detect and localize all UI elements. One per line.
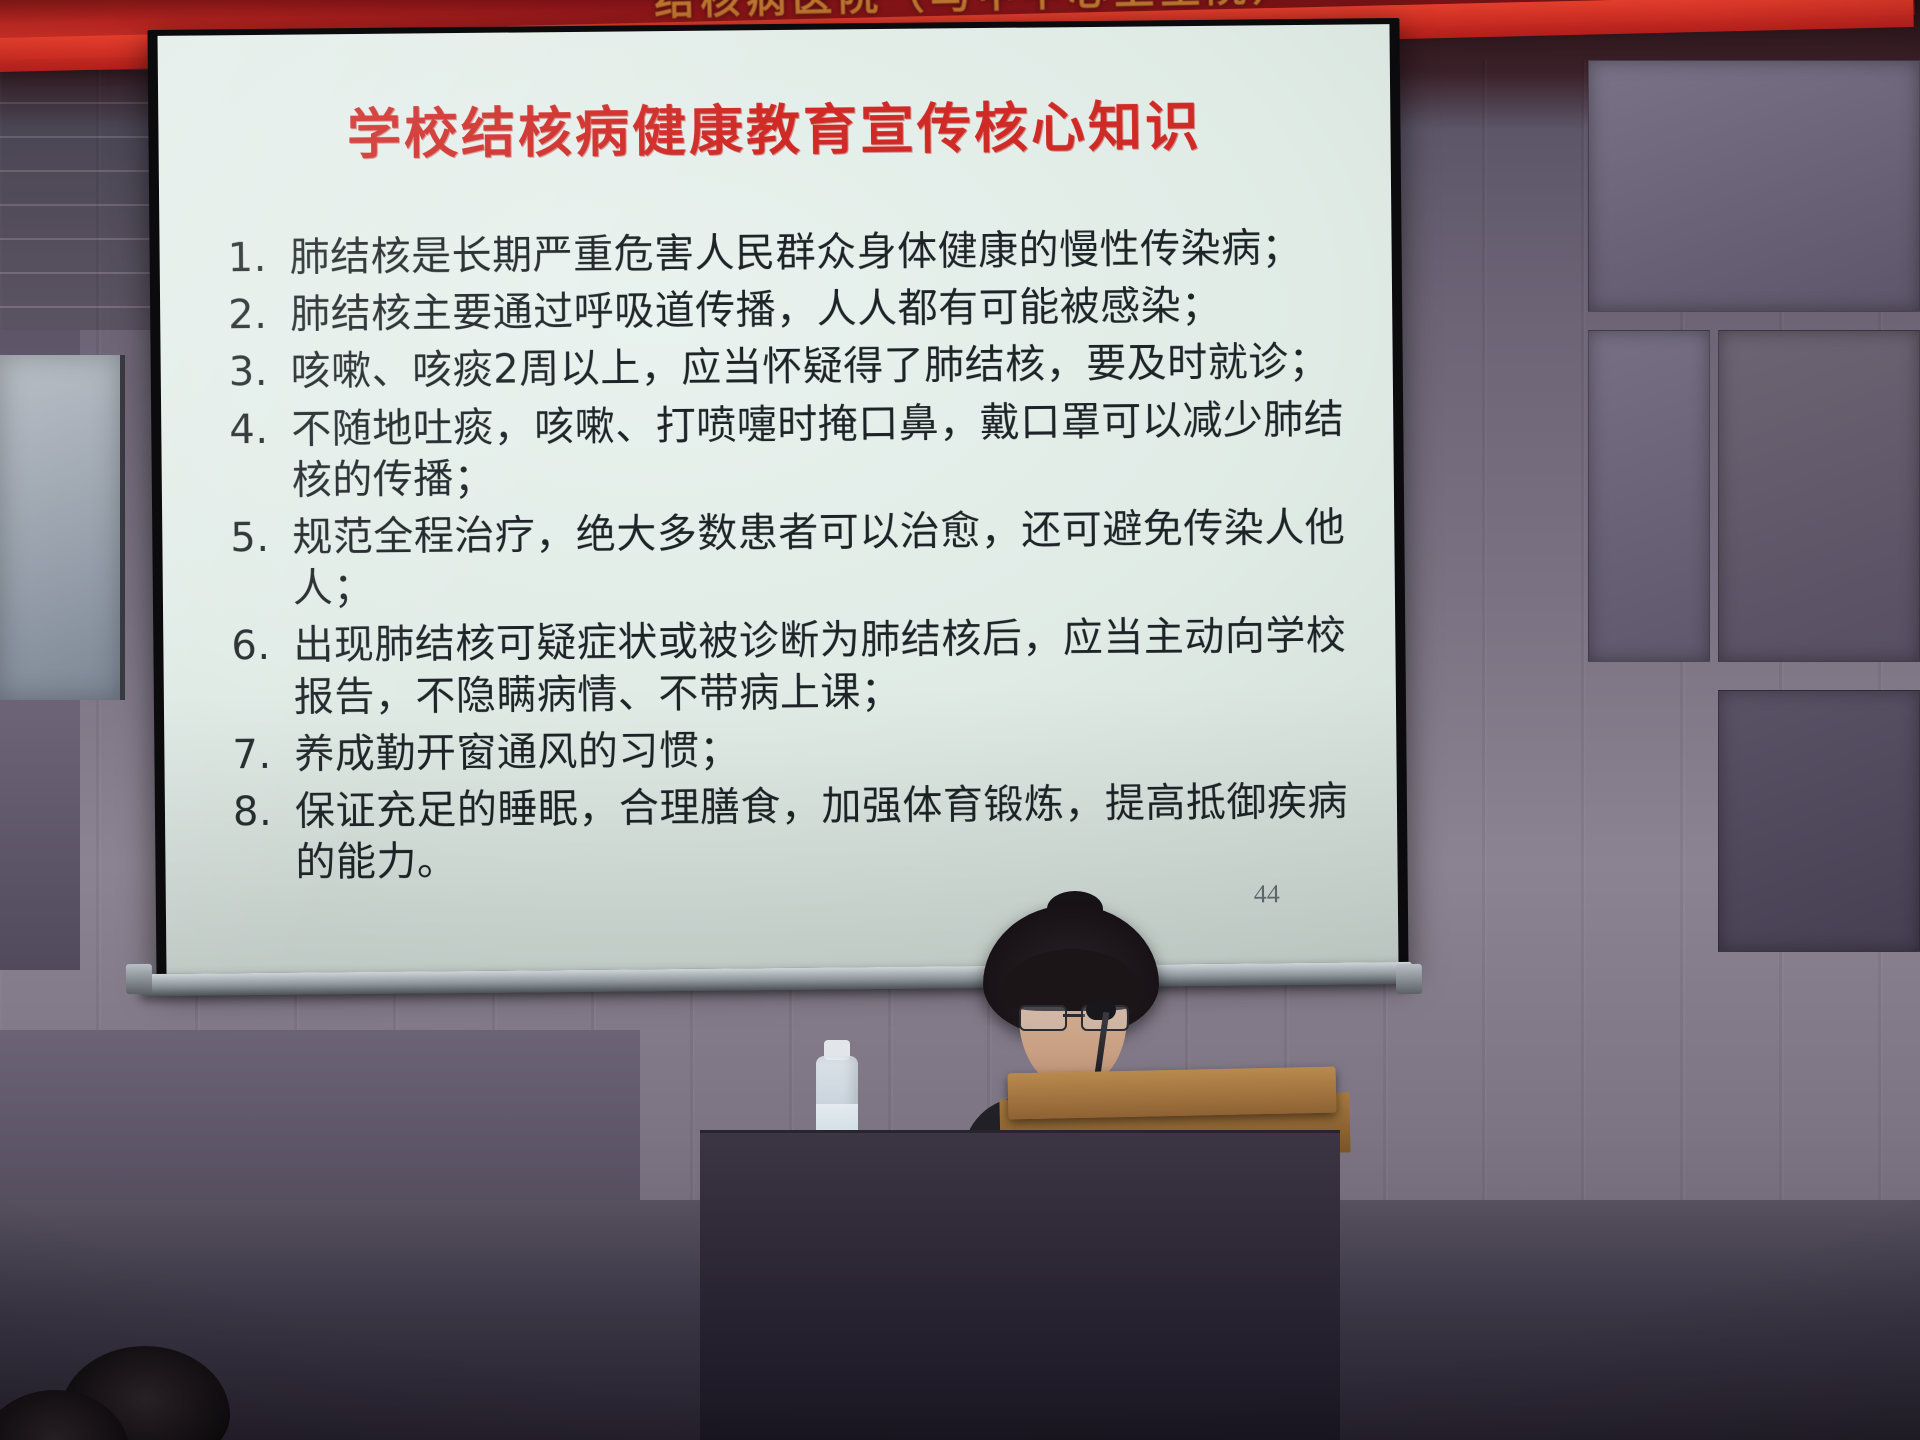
projection-screen-frame: 学校结核病健康教育宣传核心知识 1. 肺结核是长期严重危害人民群众身体健康的慢性… xyxy=(147,18,1408,982)
list-item-text: 规范全程治疗，绝大多数患者可以治愈，还可避免传染人他人； xyxy=(292,502,1367,615)
list-item-text: 咳嗽、咳痰2周以上，应当怀疑得了肺结核，要及时就诊； xyxy=(291,337,1365,398)
glasses-lens-left xyxy=(1019,1005,1067,1031)
roller-cap-right xyxy=(1396,964,1422,994)
list-item-text: 保证充足的睡眠，合理膳食，加强体育锻炼，提高抵御疾病的能力。 xyxy=(295,776,1370,889)
roller-cap-left xyxy=(126,964,152,994)
list-item-number: 2. xyxy=(220,290,290,342)
right-wall-panel-upper xyxy=(1718,330,1920,662)
right-wall-panel-top xyxy=(1588,60,1920,312)
slide-bullet-list: 1. 肺结核是长期严重危害人民群众身体健康的慢性传染病； 2. 肺结核主要通过呼… xyxy=(219,222,1369,895)
list-item: 7. 养成勤开窗通风的习惯； xyxy=(224,719,1368,781)
slide-title: 学校结核病健康教育宣传核心知识 xyxy=(158,80,1391,171)
list-item-number: 4. xyxy=(221,404,291,456)
list-item-number: 6. xyxy=(223,621,293,673)
list-item-number: 1. xyxy=(219,233,289,285)
list-item: 5. 规范全程治疗，绝大多数患者可以治愈，还可避免传染人他人； xyxy=(222,502,1367,615)
list-item: 1. 肺结核是长期严重危害人民群众身体健康的慢性传染病； xyxy=(219,222,1363,284)
list-item-number: 8. xyxy=(225,787,295,839)
podium-front-panel xyxy=(700,1130,1340,1440)
right-wall-panel-middle xyxy=(1588,330,1710,662)
slide-page-number: 44 xyxy=(1254,879,1280,909)
list-item: 2. 肺结核主要通过呼吸道传播，人人都有可能被感染； xyxy=(220,280,1364,342)
right-wall-panel-lower xyxy=(1718,690,1920,952)
list-item-number: 7. xyxy=(224,729,294,781)
list-item-number: 5. xyxy=(222,513,292,565)
list-item-text: 养成勤开窗通风的习惯； xyxy=(294,719,1368,780)
list-item: 6. 出现肺结核可疑症状或被诊断为肺结核后，应当主动向学校报告，不隐瞒病情、不带… xyxy=(223,611,1368,724)
list-item-text: 出现肺结核可疑症状或被诊断为肺结核后，应当主动向学校报告，不隐瞒病情、不带病上课… xyxy=(293,611,1368,724)
projection-screen: 学校结核病健康教育宣传核心知识 1. 肺结核是长期严重危害人民群众身体健康的慢性… xyxy=(158,24,1399,974)
list-item-text: 肺结核是长期严重危害人民群众身体健康的慢性传染病； xyxy=(289,222,1363,283)
wall-whiteboard xyxy=(0,355,125,700)
list-item: 8. 保证充足的睡眠，合理膳食，加强体育锻炼，提高抵御疾病的能力。 xyxy=(225,776,1370,889)
podium-top-surface xyxy=(1008,1067,1337,1120)
list-item-text: 肺结核主要通过呼吸道传播，人人都有可能被感染； xyxy=(290,280,1364,341)
list-item: 3. 咳嗽、咳痰2周以上，应当怀疑得了肺结核，要及时就诊； xyxy=(221,337,1365,399)
presentation-slide: 学校结核病健康教育宣传核心知识 1. 肺结核是长期严重危害人民群众身体健康的慢性… xyxy=(158,24,1399,974)
conference-room-photo: 结核病医院（马甲中心卫生院） 学校结核病健康教育宣传核心知识 1. 肺结核是长期… xyxy=(0,0,1920,1440)
list-item-text: 不随地吐痰，咳嗽、打喷嚏时掩口鼻，戴口罩可以减少肺结核的传播； xyxy=(291,394,1366,507)
list-item-number: 3. xyxy=(221,347,291,399)
list-item: 4. 不随地吐痰，咳嗽、打喷嚏时掩口鼻，戴口罩可以减少肺结核的传播； xyxy=(221,394,1366,507)
microphone-head xyxy=(1086,1000,1116,1020)
